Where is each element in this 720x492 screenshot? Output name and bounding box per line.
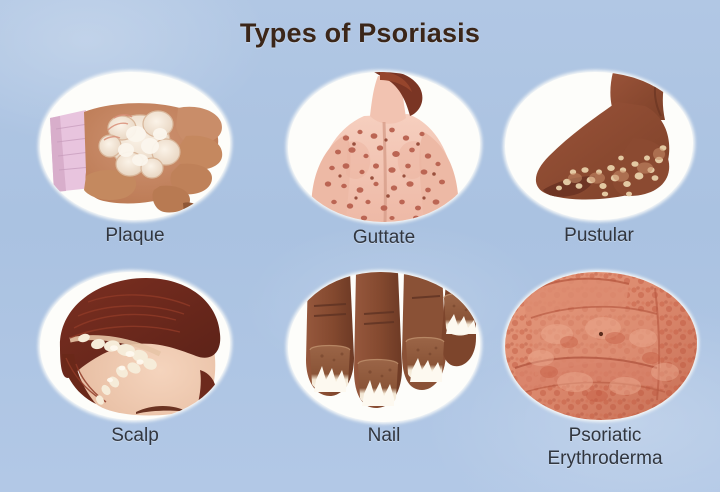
caption-erythroderma: Psoriatic Erythroderma [511,424,699,470]
tile-plaque[interactable] [40,72,230,220]
oval-frame-guttate [288,72,480,222]
caption-guttate: Guttate [288,226,480,249]
caption-pustular: Pustular [505,224,693,247]
hand-with-plaque-illustration [40,72,230,220]
oval-frame-pustular [505,72,693,220]
page-title: Types of Psoriasis [0,18,720,49]
torso-widespread-redness-illustration [505,272,697,420]
back-with-droplet-spots-illustration [288,72,480,222]
oval-frame-nail [288,272,480,422]
poster: Types of Psoriasis [0,0,720,492]
caption-erythroderma-line1: Psoriatic [511,424,699,447]
tile-nail[interactable] [288,272,480,422]
oval-frame-plaque [40,72,230,220]
caption-scalp: Scalp [40,424,230,447]
tile-erythroderma[interactable] [505,272,697,420]
tile-guttate[interactable] [288,72,480,222]
tile-scalp[interactable] [40,272,230,420]
caption-nail: Nail [288,424,480,447]
foot-with-pustules-illustration [505,72,693,220]
fingers-with-nail-psoriasis-illustration [288,272,480,422]
oval-frame-erythroderma [505,272,697,420]
oval-frame-scalp [40,272,230,420]
tile-pustular[interactable] [505,72,693,220]
caption-erythroderma-line2: Erythroderma [511,447,699,470]
caption-plaque: Plaque [40,224,230,247]
head-with-scalp-flakes-illustration [40,272,230,420]
